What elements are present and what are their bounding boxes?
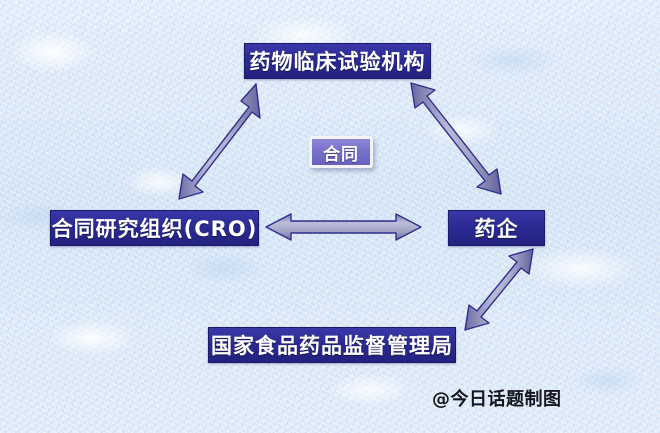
watermark-credit: @今日话题制图	[432, 385, 562, 411]
node-pharmaceutical-company[interactable]: 药企	[448, 210, 545, 246]
center-label-contract: 合同	[309, 136, 373, 168]
node-drug-clinical-trial-institution[interactable]: 药物临床试验机构	[244, 43, 431, 79]
arrow-institution-pharma	[411, 83, 501, 194]
node-cfda-regulator[interactable]: 国家食品药品监督管理局	[208, 327, 456, 363]
node-contract-research-organization[interactable]: 合同研究组织(CRO)	[50, 210, 259, 246]
arrow-cfda-pharma	[465, 249, 533, 330]
arrow-cro-pharma	[266, 214, 421, 240]
diagram-canvas: 药物临床试验机构 : double headed arrow, pointing…	[0, 0, 660, 433]
arrow-cro-institution	[179, 84, 260, 199]
